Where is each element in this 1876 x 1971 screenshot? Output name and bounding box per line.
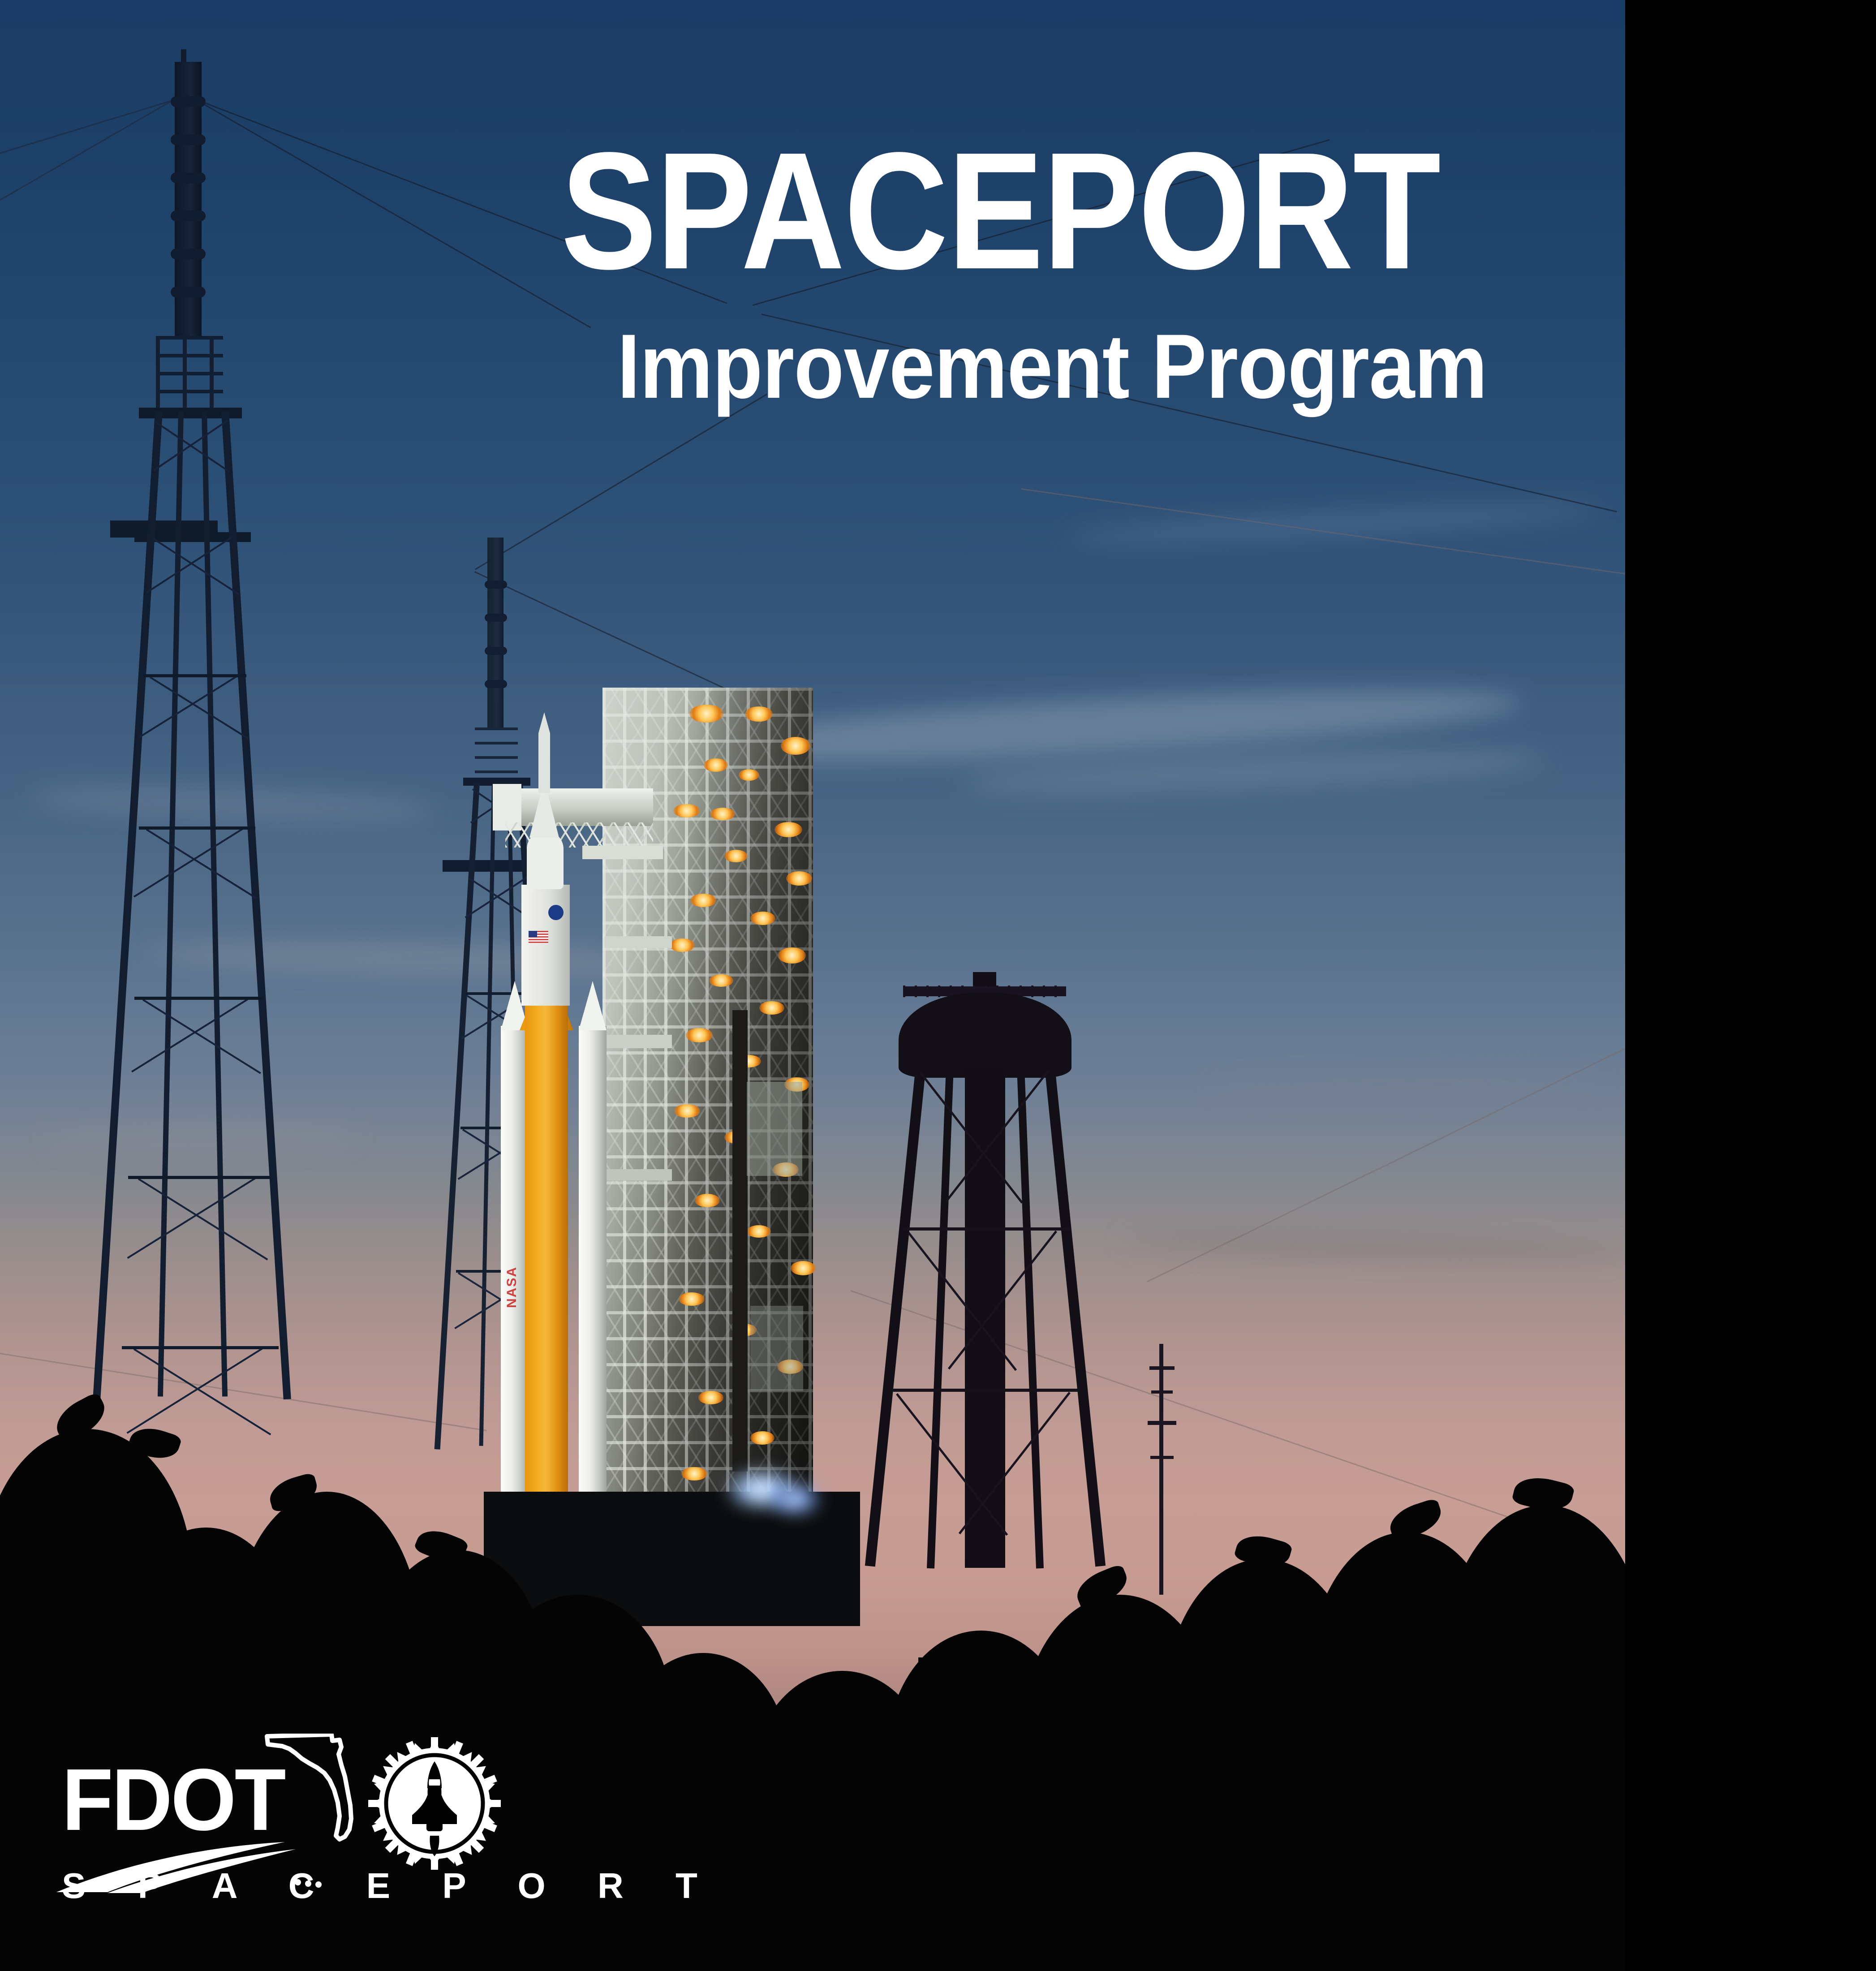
tower-leg (435, 783, 480, 1450)
nasa-worm-logo: NASA (504, 1241, 525, 1308)
tower-light (686, 1028, 713, 1042)
gear-shuttle-emblem-icon (367, 1736, 502, 1871)
umbilical-arm (605, 936, 672, 948)
sls-rocket: NASA (512, 712, 601, 1532)
fdot-acronym: FDOT (62, 1756, 284, 1844)
insulator (485, 647, 507, 655)
cover-photo: NASA (0, 0, 1625, 1971)
tower-girt (134, 997, 264, 1000)
insulator (485, 680, 507, 688)
tower-brace (127, 1177, 257, 1259)
tower-leg (93, 411, 163, 1399)
tower-light (750, 912, 775, 925)
insulator (171, 96, 206, 107)
tower-brace (150, 676, 250, 740)
insulator (485, 581, 507, 589)
core-stage (525, 1003, 568, 1531)
tower-brace (146, 536, 233, 594)
tower-leg (927, 1067, 954, 1569)
tower-light (745, 706, 773, 722)
tower-panel (750, 1306, 803, 1391)
tower-girt (139, 826, 255, 830)
tower-light (673, 804, 700, 818)
tower-light (709, 974, 733, 987)
water-tank (899, 993, 1071, 1078)
tower-light (786, 871, 812, 886)
antenna-mast (1147, 1344, 1178, 1595)
insulator (171, 134, 206, 145)
water-tower (878, 972, 1093, 1568)
insulator (485, 614, 507, 622)
tower-light (781, 737, 810, 755)
tower-ring-girder (892, 1389, 1080, 1392)
tower-light (695, 1194, 720, 1207)
insulator (171, 249, 206, 259)
tower-panel (747, 1082, 802, 1176)
tower-light (681, 1467, 707, 1480)
tower-light (759, 1001, 784, 1015)
tower-brace (155, 421, 230, 473)
tower-brace (152, 538, 240, 595)
tower-light (791, 1261, 816, 1275)
tower-light (689, 705, 723, 723)
spaceport-wordmark: S P A C E P O R T (62, 1868, 719, 1904)
tower-light (774, 822, 802, 837)
tower-brace (133, 827, 245, 898)
tower-leg (479, 783, 496, 1446)
tower-mast (487, 538, 503, 730)
tower-brace (131, 998, 250, 1073)
tower-light (739, 769, 759, 781)
fdot-spaceport-logo: FDOT (54, 1734, 529, 1922)
tower-brace (142, 999, 261, 1074)
orion-service-module (521, 885, 570, 1006)
tower-leg (158, 411, 184, 1397)
tower-light (710, 808, 735, 820)
tower-light (674, 1104, 700, 1118)
tower-cage (156, 336, 223, 411)
tower-center-column (965, 1068, 1005, 1568)
tower-light (778, 947, 806, 964)
page-subtitle: Improvement Program (617, 322, 1487, 411)
tower-conduit (732, 1010, 748, 1472)
tower-brace (138, 675, 238, 738)
nasa-meatball-icon (548, 905, 564, 920)
tower-light (750, 1431, 774, 1445)
us-flag-canton (529, 931, 537, 937)
insulator (171, 172, 206, 183)
umbilical-arm (596, 1169, 672, 1181)
orion-capsule (527, 831, 564, 889)
tower-finial (973, 972, 996, 987)
tower-girt (143, 674, 246, 677)
insulator (171, 287, 206, 297)
solid-rocket-booster-right (579, 1026, 607, 1532)
tower-light (679, 1292, 705, 1306)
insulator (171, 211, 206, 221)
tower-light (724, 850, 748, 862)
lightning-tower-left (67, 49, 318, 1420)
tower-brace (138, 1178, 268, 1261)
tower-light (690, 894, 716, 907)
tower-ring-girder (904, 1227, 1070, 1231)
launch-abort-tower (538, 712, 550, 793)
right-black-margin (1625, 0, 1876, 1971)
tower-leg (1017, 1067, 1044, 1569)
cover-page: NASA (0, 0, 1876, 1971)
tower-light (747, 1225, 771, 1238)
tower-girt (128, 1176, 271, 1179)
tower-brace (146, 829, 257, 899)
pad-light-glow (770, 1487, 820, 1511)
tower-light (698, 1391, 723, 1404)
tower-girt (122, 1346, 279, 1349)
tower-light (704, 758, 728, 772)
tower-leg (202, 411, 228, 1397)
page-title: SPACEPORT (561, 134, 1452, 287)
tower-light (670, 938, 695, 952)
